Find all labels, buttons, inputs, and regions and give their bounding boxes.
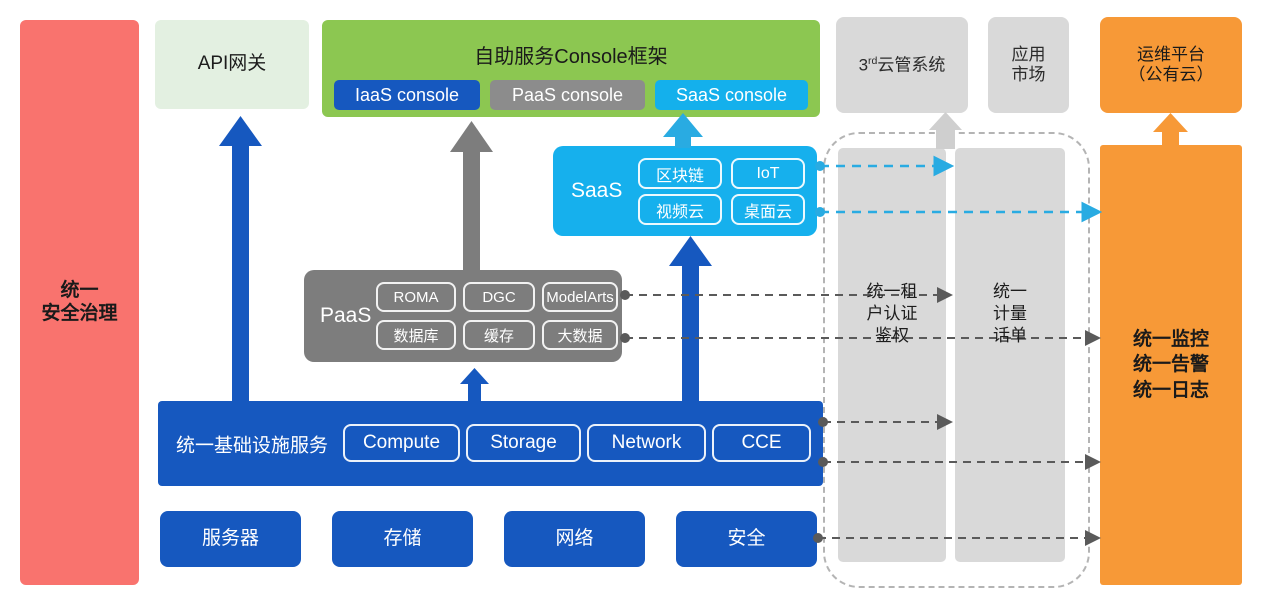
paas-block: PaaS ROMA DGC ModelArts 数据库 缓存 大数据	[304, 270, 622, 362]
paas-item-roma[interactable]: ROMA	[376, 282, 456, 312]
arrow-infra-to-paas	[460, 368, 489, 402]
infra-item-cce[interactable]: CCE	[712, 424, 811, 462]
arrow-infra-to-saas	[669, 236, 712, 403]
paas-label: PaaS	[320, 304, 371, 328]
resource-card-server[interactable]: 服务器	[160, 511, 301, 567]
api-gateway-card: API网关	[155, 20, 309, 109]
shared-service-column-billing	[955, 148, 1065, 562]
saas-item-video-cloud[interactable]: 视频云	[638, 194, 722, 225]
saas-item-iot[interactable]: IoT	[731, 158, 805, 189]
unified-infrastructure-bar: 统一基础设施服务 Compute Storage Network CCE	[158, 401, 823, 486]
console-frame-title: 自助服务Console框架	[322, 40, 820, 69]
security-governance-panel: 统一 安全治理	[20, 20, 139, 585]
saas-label: SaaS	[571, 179, 622, 203]
iaas-console-pill[interactable]: IaaS console	[334, 80, 480, 110]
arrow-infra-to-api-gateway	[219, 116, 262, 404]
saas-item-blockchain[interactable]: 区块链	[638, 158, 722, 189]
infra-item-network[interactable]: Network	[587, 424, 706, 462]
paas-item-database[interactable]: 数据库	[376, 320, 456, 350]
shared-service-column-billing-label: 统一 计量 话单	[955, 281, 1065, 347]
paas-item-modelarts[interactable]: ModelArts	[542, 282, 618, 312]
unified-infrastructure-label: 统一基础设施服务	[176, 430, 328, 457]
saas-item-desktop-cloud[interactable]: 桌面云	[731, 194, 805, 225]
infra-item-compute[interactable]: Compute	[343, 424, 460, 462]
paas-item-dgc[interactable]: DGC	[463, 282, 535, 312]
arrow-saas-to-saas-console	[663, 113, 703, 148]
saas-console-pill[interactable]: SaaS console	[655, 80, 808, 110]
architecture-diagram: 统一 安全治理 API网关 自助服务Console框架 IaaS console…	[0, 0, 1265, 605]
unified-monitoring-panel: 统一监控 统一告警 统一日志	[1100, 145, 1242, 585]
resource-card-storage[interactable]: 存储	[332, 511, 473, 567]
shared-service-column-auth-label: 统一租 户认证 鉴权	[838, 281, 946, 347]
saas-block: SaaS 区块链 IoT 视频云 桌面云	[553, 146, 817, 236]
infra-item-storage[interactable]: Storage	[466, 424, 581, 462]
shared-service-column-auth	[838, 148, 946, 562]
paas-item-cache[interactable]: 缓存	[463, 320, 535, 350]
resource-card-security[interactable]: 安全	[676, 511, 817, 567]
paas-item-bigdata[interactable]: 大数据	[542, 320, 618, 350]
third-party-cloud-mgmt-card: 3rd云管系统	[836, 17, 968, 113]
arrow-ops-panel-to-ops-platform	[1153, 113, 1188, 149]
arrow-paas-to-console	[450, 121, 493, 272]
self-service-console-frame: 自助服务Console框架 IaaS console PaaS console …	[322, 20, 820, 117]
app-market-card: 应用 市场	[988, 17, 1069, 113]
third-party-label: 3rd云管系统	[859, 55, 946, 76]
resource-card-network[interactable]: 网络	[504, 511, 645, 567]
paas-console-pill[interactable]: PaaS console	[490, 80, 645, 110]
ops-platform-card: 运维平台 （公有云）	[1100, 17, 1242, 113]
